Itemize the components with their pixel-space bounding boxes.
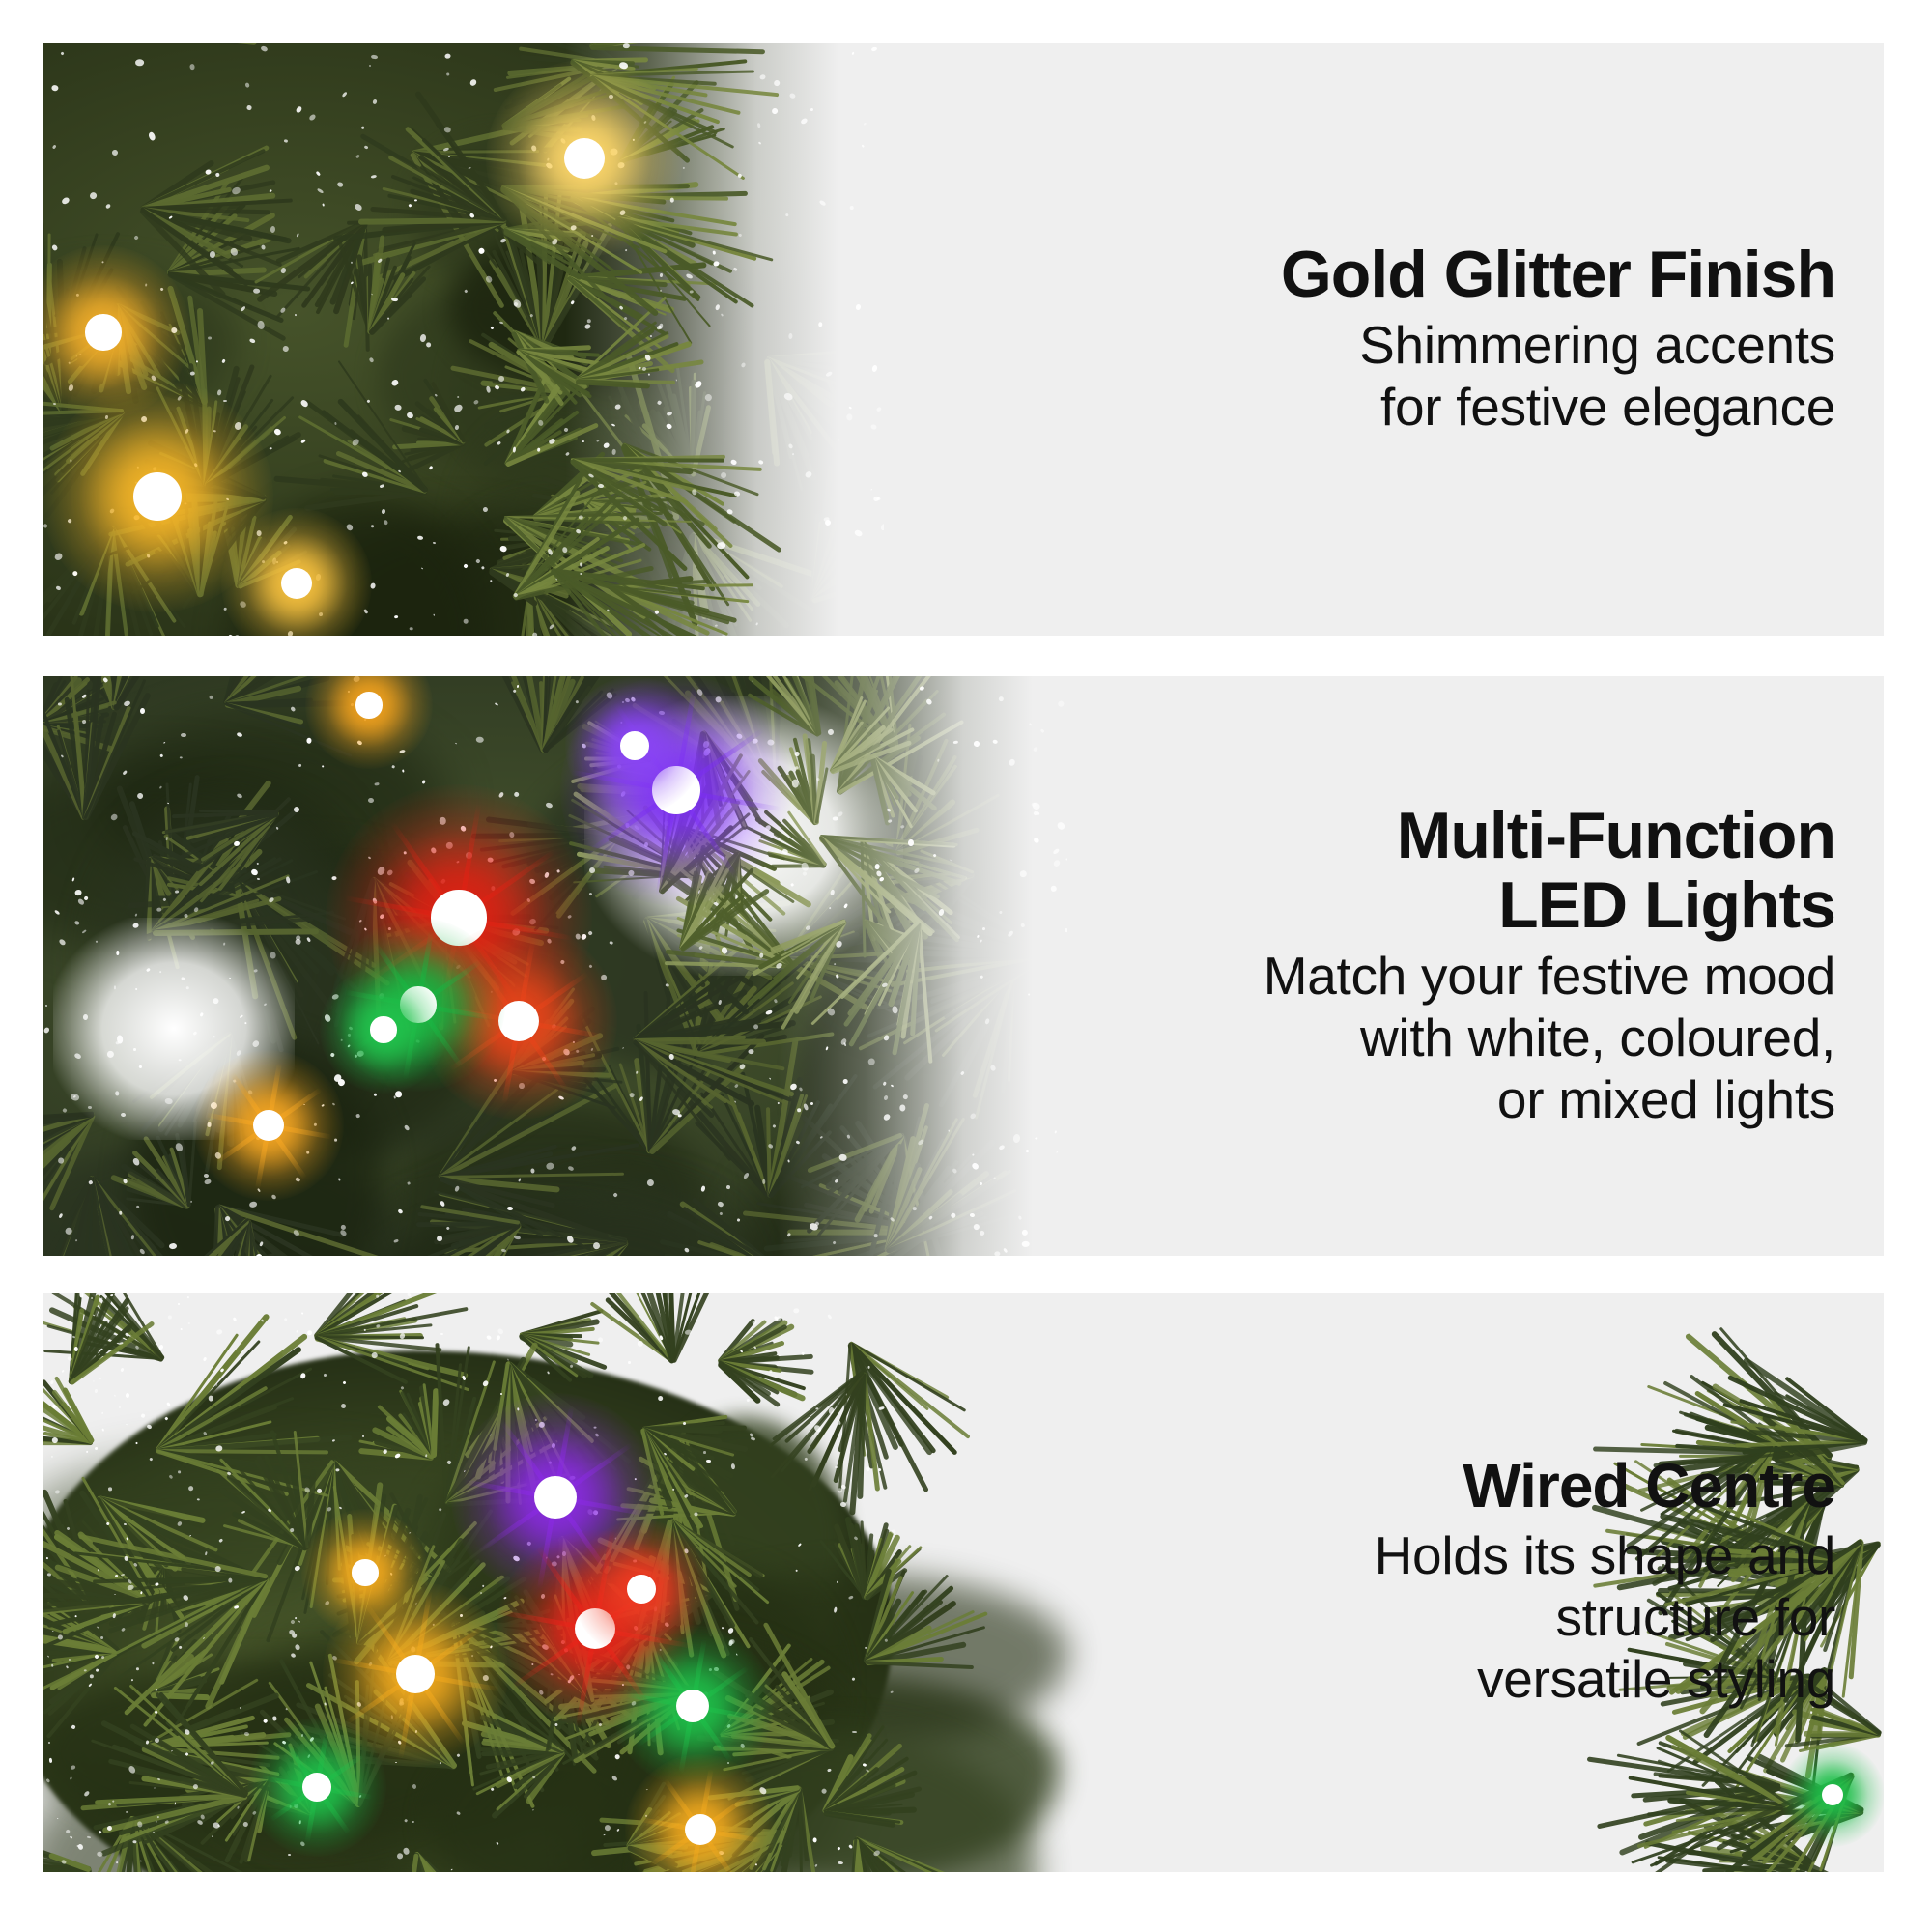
feature-panel-multi-function-led: Multi-Function LED Lights Match your fes… xyxy=(43,676,1884,1256)
glitter-sparkle xyxy=(189,64,194,71)
glitter-sparkle xyxy=(846,1134,850,1138)
glitter-sparkle xyxy=(874,1234,878,1237)
glitter-sparkle xyxy=(337,182,344,187)
glitter-sparkle xyxy=(43,1026,51,1034)
glitter-sparkle xyxy=(748,1049,754,1055)
glitter-sparkle xyxy=(469,78,478,87)
glitter-sparkle xyxy=(45,1004,48,1006)
glitter-sparkle xyxy=(532,1809,534,1811)
glitter-sparkle xyxy=(306,1329,313,1336)
christmas-tree-branch-gold-lights-photo xyxy=(43,43,884,636)
led-bulb-core xyxy=(352,1559,378,1585)
glitter-sparkle xyxy=(994,1251,1001,1256)
glitter-sparkle xyxy=(282,345,289,352)
glitter-sparkle xyxy=(611,449,615,455)
glitter-sparkle xyxy=(372,99,378,105)
glitter-sparkle xyxy=(294,314,297,317)
glitter-sparkle xyxy=(112,1613,116,1618)
led-bulb-core xyxy=(627,1575,656,1604)
glitter-sparkle xyxy=(79,1293,84,1298)
glitter-sparkle xyxy=(363,146,368,151)
glitter-sparkle xyxy=(89,191,99,201)
glitter-sparkle xyxy=(47,1573,51,1576)
glitter-sparkle xyxy=(88,1106,92,1109)
led-bulb-core xyxy=(355,692,382,718)
glitter-sparkle xyxy=(118,1406,121,1409)
glitter-sparkle xyxy=(636,1071,639,1074)
glitter-sparkle xyxy=(51,1663,54,1666)
glitter-sparkle xyxy=(805,1457,808,1460)
glitter-sparkle xyxy=(316,188,323,194)
glitter-sparkle xyxy=(249,338,256,344)
glitter-sparkle xyxy=(368,798,374,803)
glitter-sparkle xyxy=(114,1395,116,1397)
glitter-sparkle xyxy=(136,1667,139,1670)
glitter-sparkle xyxy=(149,1457,153,1461)
glitter-sparkle xyxy=(335,1468,339,1471)
page-title: Gold Glitter Finish xyxy=(1281,240,1835,309)
feature-description: Shimmering accents for festive elegance xyxy=(1359,315,1835,439)
glitter-sparkle xyxy=(440,1333,444,1335)
glitter-sparkle xyxy=(270,226,274,233)
glitter-sparkle xyxy=(852,1730,857,1733)
glitter-sparkle xyxy=(792,780,799,788)
glitter-sparkle xyxy=(1022,1240,1030,1246)
glitter-sparkle xyxy=(371,55,378,60)
glitter-sparkle xyxy=(61,1370,65,1374)
glitter-sparkle xyxy=(244,82,249,88)
glitter-sparkle xyxy=(308,114,316,122)
glitter-sparkle xyxy=(51,244,59,252)
glitter-sparkle xyxy=(580,562,582,566)
glitter-sparkle xyxy=(203,1356,207,1361)
infographic-sheet: Gold Glitter Finish Shimmering accents f… xyxy=(0,0,1932,1932)
glitter-sparkle xyxy=(126,1424,128,1426)
glitter-sparkle xyxy=(296,233,299,238)
glitter-sparkle xyxy=(116,951,119,955)
glitter-sparkle xyxy=(747,1398,750,1401)
glitter-sparkle xyxy=(683,1422,686,1425)
glitter-sparkle xyxy=(100,1636,103,1639)
glitter-sparkle xyxy=(181,733,186,737)
feature-description: Match your festive mood with white, colo… xyxy=(1264,946,1835,1130)
glitter-sparkle xyxy=(769,1077,771,1079)
glitter-sparkle xyxy=(476,736,484,743)
glitter-sparkle xyxy=(752,680,753,682)
glitter-sparkle xyxy=(361,126,365,129)
glitter-sparkle xyxy=(794,751,800,756)
glitter-sparkle xyxy=(295,105,302,114)
glitter-sparkle xyxy=(111,150,118,156)
glitter-sparkle xyxy=(784,213,788,216)
led-bulb-core xyxy=(620,731,649,760)
glitter-sparkle xyxy=(719,1212,723,1216)
led-bulb-core xyxy=(133,472,182,521)
glitter-sparkle xyxy=(537,447,540,451)
glitter-sparkle xyxy=(239,1706,241,1709)
glitter-sparkle xyxy=(375,781,380,785)
glitter-sparkle xyxy=(678,1114,682,1118)
glitter-sparkle xyxy=(178,1471,182,1474)
glitter-sparkle xyxy=(725,1185,730,1190)
glitter-sparkle xyxy=(433,542,436,544)
glitter-sparkle xyxy=(793,1308,799,1314)
glitter-sparkle xyxy=(306,738,311,744)
glitter-sparkle xyxy=(232,1317,236,1321)
glitter-sparkle xyxy=(495,702,498,706)
glitter-sparkle xyxy=(148,132,156,142)
glitter-sparkle xyxy=(273,428,282,436)
glitter-sparkle xyxy=(300,439,306,444)
glitter-sparkle xyxy=(61,196,71,205)
glitter-sparkle xyxy=(156,907,161,911)
glitter-sparkle xyxy=(210,251,215,258)
glitter-sparkle xyxy=(284,1318,288,1321)
glitter-sparkle xyxy=(257,878,261,881)
led-bulb-core xyxy=(85,314,121,350)
led-bulb-core xyxy=(302,1773,331,1802)
glitter-sparkle xyxy=(105,203,111,209)
glitter-sparkle xyxy=(672,1488,674,1490)
glitter-sparkle xyxy=(95,1389,99,1393)
glitter-sparkle xyxy=(827,1314,832,1320)
glitter-sparkle xyxy=(159,971,161,973)
glitter-sparkle xyxy=(187,1485,193,1491)
glitter-sparkle xyxy=(74,1238,77,1240)
glitter-sparkle xyxy=(270,189,272,192)
glitter-sparkle xyxy=(592,1242,599,1249)
glitter-sparkle xyxy=(366,399,370,403)
glitter-sparkle xyxy=(295,1329,298,1333)
glitter-sparkle xyxy=(628,1360,631,1363)
glitter-sparkle xyxy=(133,235,139,241)
glitter-sparkle xyxy=(52,145,57,150)
glitter-sparkle xyxy=(126,1393,129,1398)
glitter-sparkle xyxy=(409,204,412,208)
glitter-sparkle xyxy=(210,696,213,699)
glitter-sparkle xyxy=(121,1367,125,1372)
glitter-sparkle xyxy=(815,1407,818,1409)
glitter-sparkle xyxy=(133,1047,136,1050)
glitter-sparkle xyxy=(86,1450,89,1453)
glitter-sparkle xyxy=(280,267,286,273)
glitter-sparkle xyxy=(228,1578,232,1583)
glitter-sparkle xyxy=(154,1786,156,1788)
glitter-sparkle xyxy=(1035,1136,1038,1139)
glitter-sparkle xyxy=(355,155,360,159)
glitter-sparkle xyxy=(95,1447,99,1451)
glitter-sparkle xyxy=(908,839,914,846)
glitter-sparkle xyxy=(241,306,246,312)
glitter-sparkle xyxy=(236,1805,239,1808)
glitter-sparkle xyxy=(410,627,413,630)
glitter-sparkle xyxy=(444,54,451,60)
glitter-sparkle xyxy=(948,1130,950,1132)
glitter-sparkle xyxy=(179,1059,182,1061)
glitter-sparkle xyxy=(261,45,269,52)
glitter-sparkle xyxy=(156,1821,156,1823)
page-title: Multi-Function LED Lights xyxy=(1397,801,1835,940)
feature-panel-gold-glitter: Gold Glitter Finish Shimmering accents f… xyxy=(43,43,1884,636)
glitter-sparkle xyxy=(354,203,363,213)
glitter-sparkle xyxy=(316,170,321,175)
glitter-sparkle xyxy=(178,1303,180,1305)
glitter-sparkle xyxy=(433,613,435,615)
glitter-sparkle xyxy=(937,759,940,762)
glitter-sparkle xyxy=(114,1594,116,1595)
glitter-sparkle xyxy=(115,1041,119,1045)
glitter-sparkle xyxy=(115,1574,118,1577)
glitter-sparkle xyxy=(216,389,222,396)
glitter-sparkle xyxy=(188,1534,190,1536)
glitter-sparkle xyxy=(718,1201,724,1207)
glitter-sparkle xyxy=(124,1523,127,1525)
glitter-sparkle xyxy=(496,1335,501,1342)
led-bulb-core xyxy=(253,1110,284,1141)
glitter-sparkle xyxy=(93,1380,94,1382)
glitter-sparkle xyxy=(734,1084,738,1089)
glitter-sparkle xyxy=(60,51,64,55)
led-bulb-core xyxy=(281,568,312,599)
glitter-sparkle xyxy=(97,1851,102,1856)
feature-text-block: Multi-Function LED Lights Match your fes… xyxy=(1092,676,1884,1256)
glitter-sparkle xyxy=(51,85,58,92)
glitter-sparkle xyxy=(842,1079,847,1084)
glitter-sparkle xyxy=(902,1094,908,1100)
glitter-sparkle xyxy=(140,708,145,714)
feature-text-block: Gold Glitter Finish Shimmering accents f… xyxy=(1150,43,1884,636)
led-bulb-core xyxy=(685,1814,716,1845)
glitter-sparkle xyxy=(355,1113,360,1118)
glitter-sparkle xyxy=(387,318,390,321)
led-bulb-core xyxy=(564,138,605,179)
glitter-sparkle xyxy=(301,1313,303,1316)
glitter-sparkle xyxy=(1012,1133,1020,1143)
glitter-sparkle xyxy=(58,702,62,705)
glitter-sparkle xyxy=(485,1335,492,1341)
glitter-sparkle xyxy=(166,1402,171,1406)
glitter-sparkle xyxy=(204,1174,209,1178)
glitter-sparkle xyxy=(132,1840,136,1844)
glitter-sparkle xyxy=(174,1803,176,1805)
glitter-sparkle xyxy=(165,837,167,840)
glitter-sparkle xyxy=(140,1413,145,1418)
glitter-sparkle xyxy=(101,1412,103,1414)
glitter-sparkle xyxy=(701,1185,706,1192)
glitter-sparkle xyxy=(454,743,456,745)
glitter-sparkle xyxy=(402,769,404,772)
glitter-sparkle xyxy=(187,1321,189,1323)
glitter-sparkle xyxy=(283,139,288,143)
glitter-sparkle xyxy=(261,244,266,250)
glitter-sparkle xyxy=(867,1366,870,1369)
glitter-sparkle xyxy=(152,1662,154,1664)
glitter-sparkle xyxy=(369,65,371,67)
glitter-sparkle xyxy=(322,204,325,208)
glitter-sparkle xyxy=(507,1206,513,1210)
glitter-sparkle xyxy=(370,524,374,526)
glitter-sparkle xyxy=(181,1328,183,1330)
glitter-sparkle xyxy=(737,1218,740,1222)
glitter-sparkle xyxy=(378,258,384,263)
glitter-sparkle xyxy=(394,404,402,411)
glitter-sparkle xyxy=(371,174,377,178)
glitter-sparkle xyxy=(374,1094,377,1096)
glitter-sparkle xyxy=(101,1297,103,1300)
glitter-sparkle xyxy=(90,1674,94,1678)
glitter-sparkle xyxy=(50,1380,54,1385)
led-bulb-core xyxy=(370,1016,396,1042)
glitter-sparkle xyxy=(530,1168,535,1173)
glitter-sparkle xyxy=(168,1316,172,1320)
glitter-sparkle xyxy=(762,1179,765,1183)
glitter-sparkle xyxy=(575,699,578,703)
photo-edge-fade xyxy=(778,676,1067,1256)
glitter-sparkle xyxy=(342,92,348,98)
glitter-sparkle xyxy=(598,484,604,488)
glitter-sparkle xyxy=(892,1529,896,1533)
glitter-sparkle xyxy=(796,1108,801,1112)
glitter-sparkle xyxy=(113,986,115,990)
feature-panel-wired-centre: Wired Centre Holds its shape and structu… xyxy=(43,1293,1884,1872)
glitter-sparkle xyxy=(369,357,375,364)
glitter-sparkle xyxy=(685,1329,692,1335)
glitter-sparkle xyxy=(101,1428,104,1432)
glitter-sparkle xyxy=(216,1329,223,1335)
christmas-tree-branch-multicolour-lights-photo xyxy=(43,676,1067,1256)
led-bulb-core xyxy=(396,1655,435,1693)
glitter-sparkle xyxy=(115,1091,119,1095)
glitter-sparkle xyxy=(99,1378,101,1379)
glitter-sparkle xyxy=(1065,858,1067,861)
glitter-sparkle xyxy=(768,1370,772,1374)
glitter-sparkle xyxy=(849,205,853,210)
glitter-sparkle xyxy=(107,1487,112,1491)
glitter-sparkle xyxy=(429,466,434,470)
glitter-sparkle xyxy=(235,635,241,636)
glitter-sparkle xyxy=(824,516,830,521)
glitter-sparkle xyxy=(135,59,144,66)
glitter-sparkle xyxy=(51,1456,53,1458)
glitter-sparkle xyxy=(446,72,450,75)
glitter-sparkle xyxy=(214,173,219,178)
glitter-sparkle xyxy=(772,1124,776,1128)
glitter-sparkle xyxy=(629,1092,636,1098)
glitter-sparkle xyxy=(246,105,252,111)
glitter-sparkle xyxy=(72,1094,75,1097)
glitter-sparkle xyxy=(187,1296,189,1298)
